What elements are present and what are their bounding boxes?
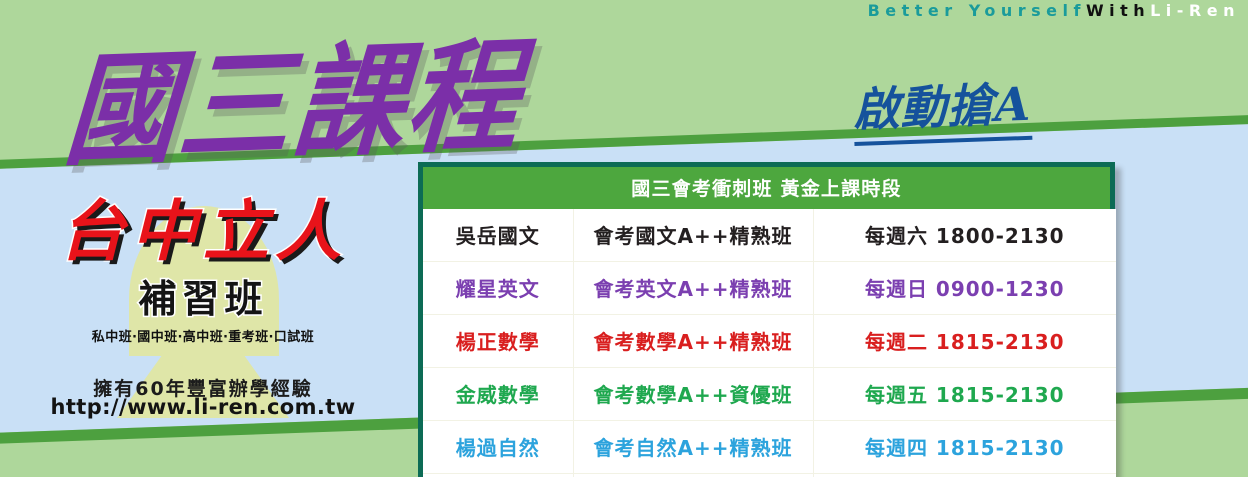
promo-banner: Better YourselfWithLi-Ren 國三課程 啟動搶A 台中立人… [0, 0, 1248, 477]
row-course: 會考自然A++精熟班 [573, 421, 813, 474]
row-time: 每週四 1815-2130 [813, 421, 1116, 474]
logo-school-name: 台中立人 [28, 198, 378, 266]
tagline-part-2: With [1086, 1, 1150, 20]
row-teacher: 楊正數學 [423, 315, 573, 368]
schedule-table-card: 國三會考衝刺班 黃金上課時段 吳岳國文會考國文A++精熟班每週六 1800-21… [418, 162, 1115, 477]
table-row: 林大雄社會會考社會A++精熟班每週日 1330-1700 [423, 474, 1116, 477]
table-row: 吳岳國文會考國文A++精熟班每週六 1800-2130 [423, 209, 1116, 262]
row-teacher: 林大雄社會 [423, 474, 573, 477]
row-course: 會考數學A++精熟班 [573, 315, 813, 368]
school-logo: 台中立人 補習班 私中班‧國中班‧高中班‧重考班‧口試班 [28, 198, 378, 345]
row-time: 每週二 1815-2130 [813, 315, 1116, 368]
table-row: 楊正數學會考數學A++精熟班每週二 1815-2130 [423, 315, 1116, 368]
tagline-part-3: Li-Ren [1150, 1, 1240, 20]
row-course: 會考數學A++資優班 [573, 368, 813, 421]
table-row: 楊過自然會考自然A++精熟班每週四 1815-2130 [423, 421, 1116, 474]
tagline: Better YourselfWithLi-Ren [0, 1, 1240, 20]
row-teacher: 耀星英文 [423, 262, 573, 315]
row-time: 每週日 0900-1230 [813, 262, 1116, 315]
logo-class-list: 私中班‧國中班‧高中班‧重考班‧口試班 [28, 326, 378, 345]
logo-school-type: 補習班 [28, 268, 378, 323]
row-time: 每週日 1330-1700 [813, 474, 1116, 477]
schedule-table-body: 吳岳國文會考國文A++精熟班每週六 1800-2130耀星英文會考英文A++精熟… [423, 209, 1116, 477]
row-time: 每週五 1815-2130 [813, 368, 1116, 421]
row-time: 每週六 1800-2130 [813, 209, 1116, 262]
table-row: 耀星英文會考英文A++精熟班每週日 0900-1230 [423, 262, 1116, 315]
schedule-header: 國三會考衝刺班 黃金上課時段 [423, 167, 1110, 209]
row-course: 會考英文A++精熟班 [573, 262, 813, 315]
schedule-table: 吳岳國文會考國文A++精熟班每週六 1800-2130耀星英文會考英文A++精熟… [423, 209, 1116, 477]
tagline-part-1: Better Yourself [868, 1, 1086, 20]
row-course: 會考國文A++精熟班 [573, 209, 813, 262]
row-teacher: 吳岳國文 [423, 209, 573, 262]
row-teacher: 楊過自然 [423, 421, 573, 474]
row-teacher: 金威數學 [423, 368, 573, 421]
website-url[interactable]: http://www.li-ren.com.tw [28, 395, 378, 419]
row-course: 會考社會A++精熟班 [573, 474, 813, 477]
page-subtitle: 啟動搶A [852, 68, 1032, 146]
table-row: 金威數學會考數學A++資優班每週五 1815-2130 [423, 368, 1116, 421]
